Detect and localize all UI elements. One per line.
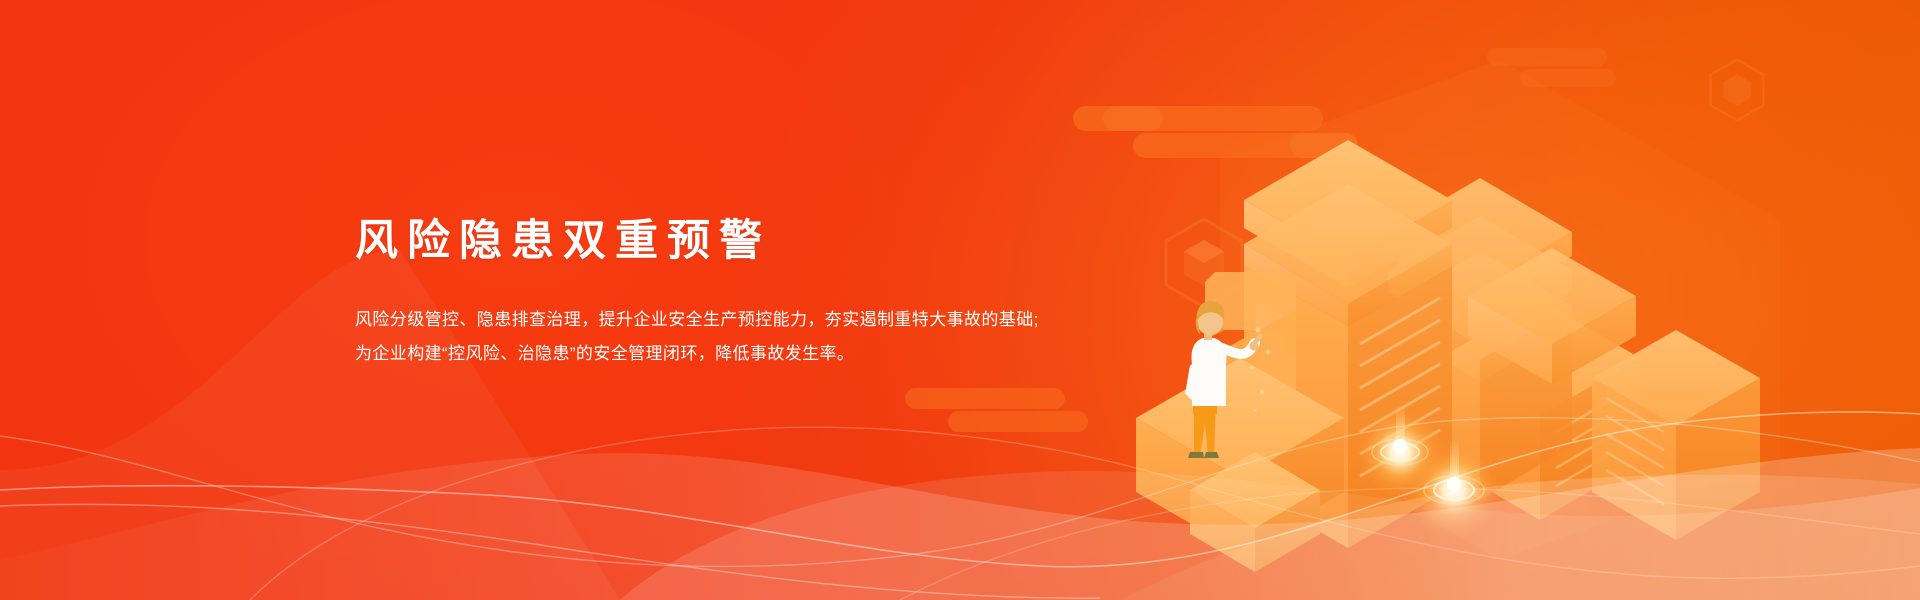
- glow-light-icon: [1406, 440, 1502, 538]
- box-front-small: [1190, 452, 1320, 572]
- hero-subtitle-line-2: 为企业构建“控风险、治隐患”的安全管理闭环，降低事故发生率。: [355, 337, 1185, 371]
- tower-far-right: [1592, 330, 1760, 540]
- arrow-block-shape: [1205, 272, 1296, 430]
- hero-subtitle-line-1: 风险分级管控、隐患排查治理，提升企业安全生产预控能力，夯实遏制重特大事故的基础;: [355, 303, 1185, 337]
- tower-center-stack: [1388, 178, 1572, 500]
- hero-banner: 风险隐患双重预警 风险分级管控、隐患排查治理，提升企业安全生产预控能力，夯实遏制…: [0, 0, 1920, 600]
- sparkle-dots: [1250, 328, 1270, 412]
- box-top-right: [1468, 248, 1636, 384]
- page-title: 风险隐患双重预警: [355, 218, 1185, 265]
- background-hexagon-shape: [1220, 60, 1780, 560]
- tower-main-left: [1244, 140, 1452, 548]
- box-front-large: [1136, 358, 1344, 552]
- glow-light-icon: [1354, 405, 1446, 498]
- cloud-shape-icon: [1073, 106, 1358, 158]
- cloud-shape-icon: [1487, 48, 1616, 87]
- cloud-shape-icon: [905, 388, 1088, 432]
- hero-text-block: 风险隐患双重预警 风险分级管控、隐患排查治理，提升企业安全生产预控能力，夯实遏制…: [355, 218, 1185, 371]
- tower-back-right: [1440, 300, 1640, 520]
- hexagon-cube-outline-icon: [1166, 60, 1763, 307]
- person-pointing-figure: [1188, 301, 1260, 458]
